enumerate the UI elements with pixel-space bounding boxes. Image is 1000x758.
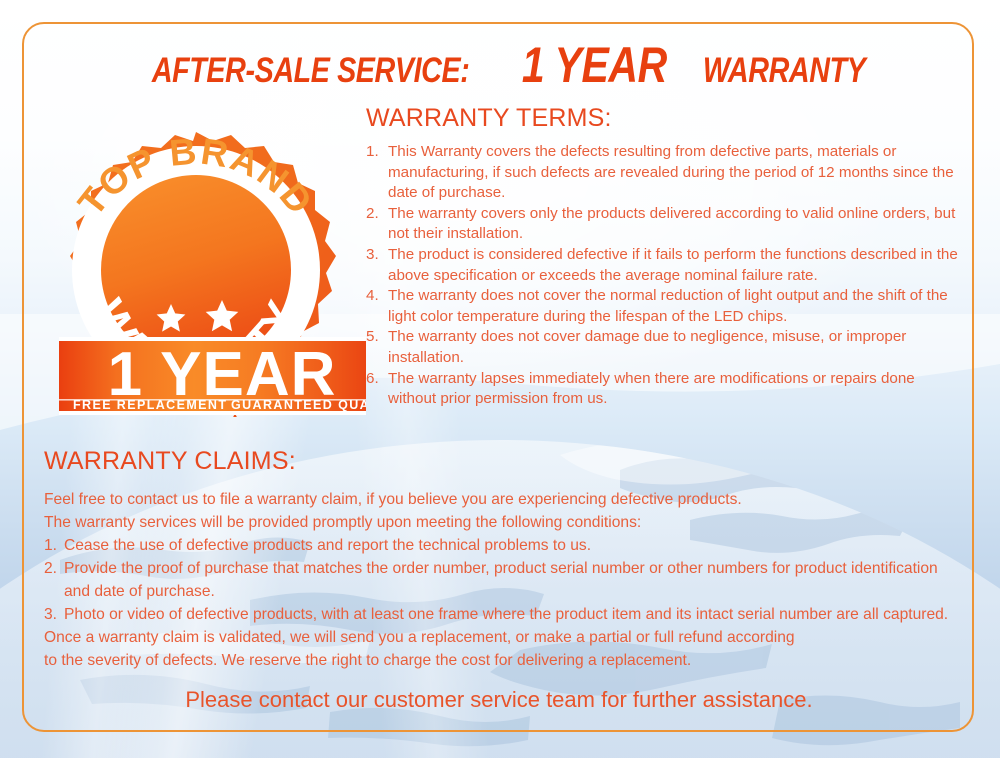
- warranty-badge-seal: TOP BRAND WARRANTY: [26, 122, 366, 417]
- list-number: 4.: [366, 286, 379, 307]
- list-text: The warranty does not cover the normal r…: [388, 287, 948, 325]
- list-text: Photo or video of defective products, wi…: [64, 606, 948, 623]
- list-number: 1.: [366, 142, 379, 163]
- warranty-terms-item: 1. This Warranty covers the defects resu…: [366, 142, 966, 204]
- claims-outro-line-2: to the severity of defects. We reserve t…: [44, 649, 954, 672]
- warranty-claims-heading: WARRANTY CLAIMS:: [44, 447, 954, 476]
- warranty-terms-item: 6. The warranty lapses immediately when …: [366, 369, 966, 410]
- list-number: 3.: [44, 603, 57, 626]
- list-text: The warranty lapses immediately when the…: [388, 370, 915, 408]
- warranty-claims-item: 3. Photo or video of defective products,…: [44, 603, 954, 626]
- warranty-terms-list: 1. This Warranty covers the defects resu…: [366, 142, 966, 410]
- list-number: 5.: [366, 327, 379, 348]
- list-number: 6.: [366, 369, 379, 390]
- list-number: 2.: [366, 204, 379, 225]
- list-text: Provide the proof of purchase that match…: [64, 560, 938, 600]
- list-text: The warranty does not cover damage due t…: [388, 328, 906, 366]
- list-text: Cease the use of defective products and …: [64, 537, 591, 554]
- badge-left-caption: FREE REPLACEMENT: [73, 398, 227, 412]
- warranty-terms-heading: WARRANTY TERMS:: [366, 104, 966, 133]
- title-highlight: 1 YEAR: [522, 36, 667, 94]
- warranty-claims-list: 1. Cease the use of defective products a…: [44, 534, 954, 626]
- claims-outro-line-1: Once a warranty claim is validated, we w…: [44, 626, 954, 649]
- list-number: 2.: [44, 557, 57, 580]
- warranty-terms-section: WARRANTY TERMS: 1. This Warranty covers …: [366, 104, 966, 410]
- warranty-claims-item: 1. Cease the use of defective products a…: [44, 534, 954, 557]
- warranty-terms-item: 5. The warranty does not cover damage du…: [366, 327, 966, 368]
- warranty-terms-item: 3. The product is considered defective i…: [366, 245, 966, 286]
- page-title: AFTER-SALE SERVICE:1 YEARWARRANTY: [0, 36, 1000, 94]
- list-number: 1.: [44, 534, 57, 557]
- list-text: The warranty covers only the products de…: [388, 205, 955, 243]
- warranty-terms-item: 2. The warranty covers only the products…: [366, 204, 966, 245]
- claims-intro-line-2: The warranty services will be provided p…: [44, 511, 954, 534]
- list-text: This Warranty covers the defects resulti…: [388, 143, 954, 201]
- badge-right-caption: GUARANTEED QUALITY: [231, 398, 366, 412]
- warranty-claims-section: WARRANTY CLAIMS: Feel free to contact us…: [44, 447, 954, 736]
- title-suffix: WARRANTY: [703, 51, 866, 91]
- warranty-terms-item: 4. The warranty does not cover the norma…: [366, 286, 966, 327]
- warranty-claims-item: 2. Provide the proof of purchase that ma…: [44, 557, 954, 603]
- claims-intro-line-1: Feel free to contact us to file a warran…: [44, 488, 954, 511]
- list-number: 3.: [366, 245, 379, 266]
- closing-message: Please contact our customer service team…: [44, 686, 954, 714]
- title-prefix: AFTER-SALE SERVICE:: [152, 51, 470, 91]
- warranty-page: AFTER-SALE SERVICE:1 YEARWARRANTY: [0, 0, 1000, 758]
- list-text: The product is considered defective if i…: [388, 246, 958, 284]
